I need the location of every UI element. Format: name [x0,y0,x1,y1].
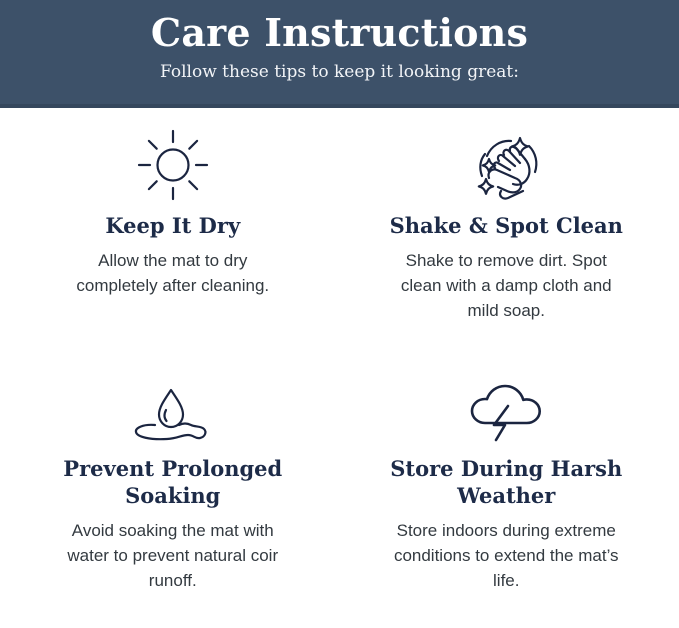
hands-sparkle-icon [465,126,547,204]
tip-heading: Store During Harsh Weather [376,455,636,509]
tip-body: Shake to remove dirt. Spot clean with a … [391,248,621,323]
tip-card-prevent-prolonged-soaking: Prevent Prolonged Soaking Avoid soaking … [6,375,340,624]
tip-heading: Shake & Spot Clean [390,212,623,239]
tip-card-shake-spot-clean: Shake & Spot Clean Shake to remove dirt.… [340,126,674,375]
sun-icon [136,126,210,204]
poster-header: Care Instructions Follow these tips to k… [0,0,679,108]
tip-card-keep-it-dry: Keep It Dry Allow the mat to dry complet… [6,126,340,375]
storm-cloud-lightning-icon [463,375,549,447]
page-subtitle: Follow these tips to keep it looking gre… [0,59,679,85]
water-droplet-puddle-icon [125,375,221,447]
tip-body: Allow the mat to dry completely after cl… [58,248,288,298]
tip-heading: Keep It Dry [105,212,240,239]
tip-body: Avoid soaking the mat with water to prev… [58,518,288,593]
tip-body: Store indoors during extreme conditions … [391,518,621,593]
tips-grid: Keep It Dry Allow the mat to dry complet… [0,108,679,628]
care-instructions-poster: Care Instructions Follow these tips to k… [0,0,679,628]
tip-card-store-during-harsh-weather: Store During Harsh Weather Store indoors… [340,375,674,624]
tip-heading: Prevent Prolonged Soaking [43,455,303,509]
page-title: Care Instructions [0,9,679,57]
